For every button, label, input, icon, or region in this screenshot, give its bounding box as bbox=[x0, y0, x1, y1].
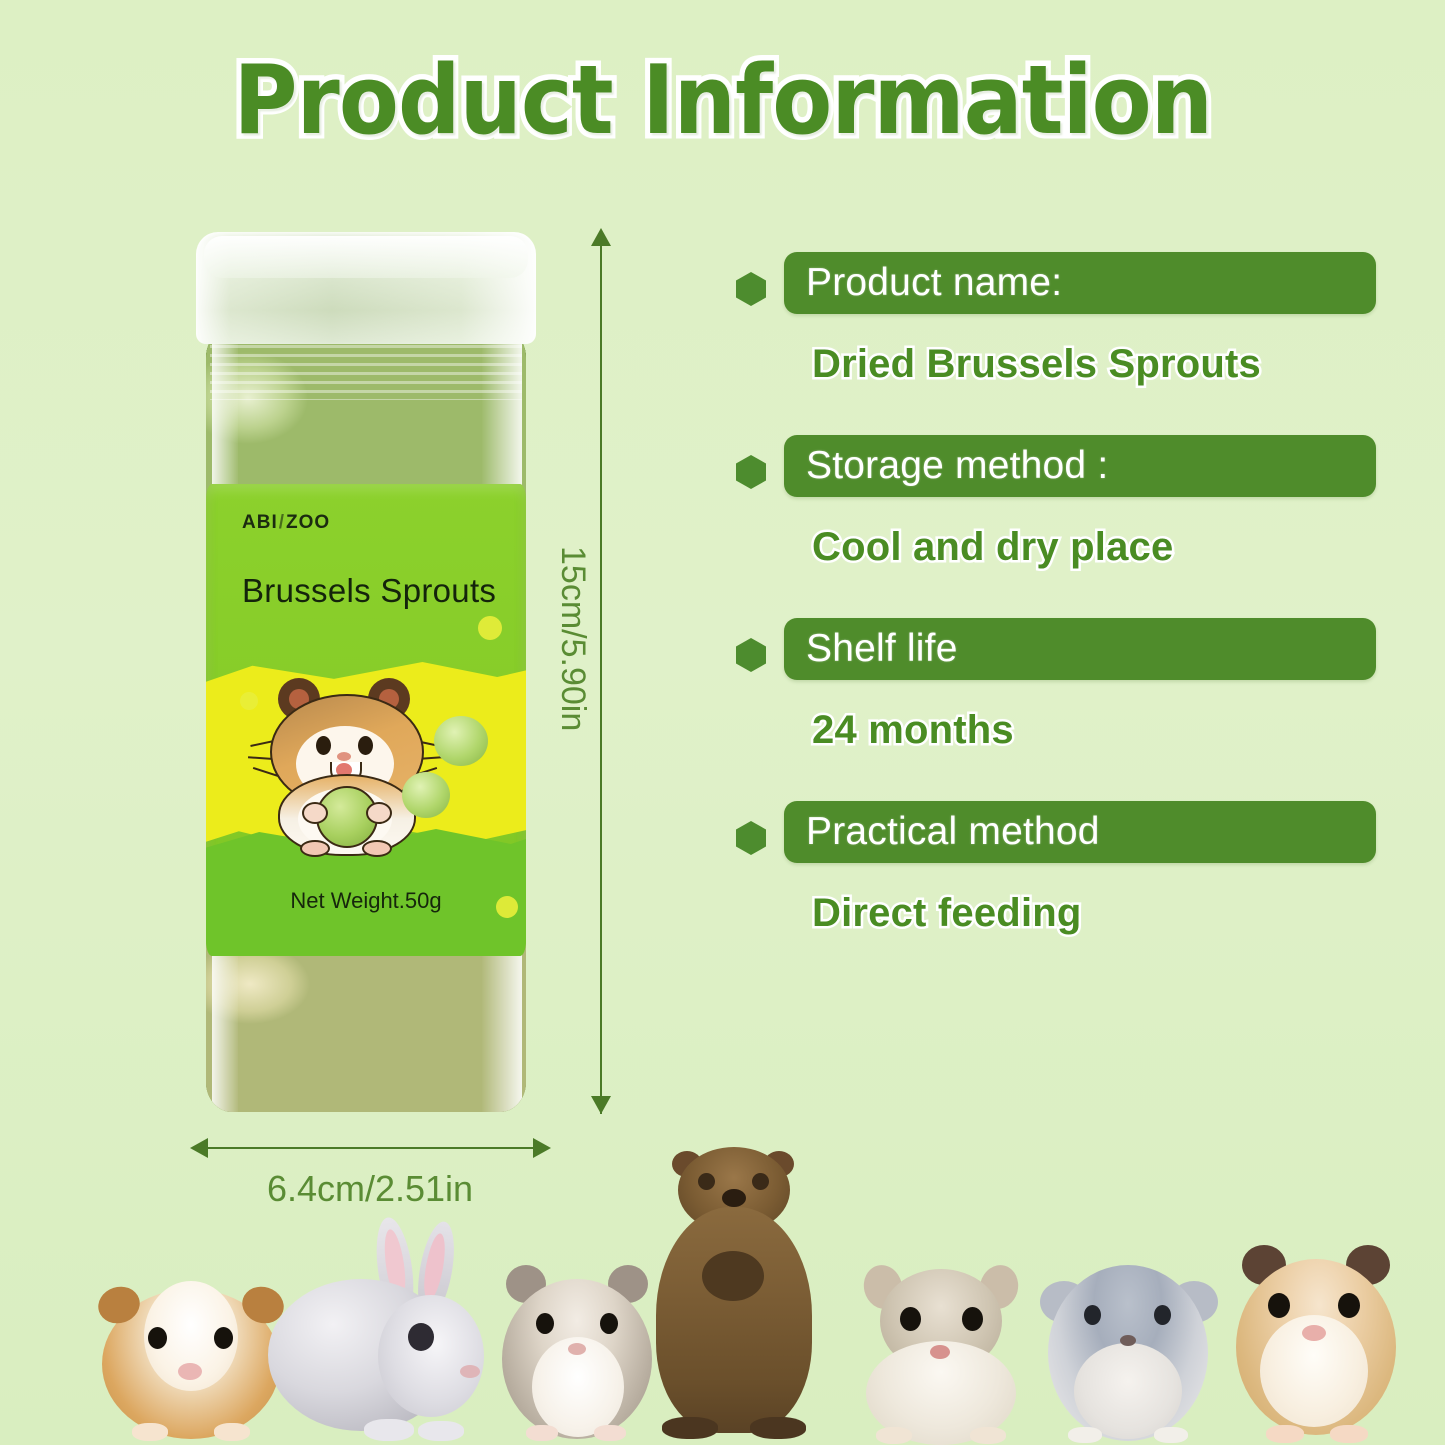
info-value-text: Direct feeding bbox=[812, 891, 1376, 936]
product-information-infographic: Product Information ABI/ZOO Brussels Spr… bbox=[0, 0, 1445, 1445]
brand-zoo: ZOO bbox=[286, 512, 330, 533]
hexagon-bullet-icon bbox=[736, 455, 766, 489]
height-dimension-label: 15cm/5.90in bbox=[553, 546, 592, 731]
dwarf-hamster-photo bbox=[496, 1259, 656, 1445]
guinea-pig-photo bbox=[96, 1265, 286, 1445]
jar-lid bbox=[196, 232, 536, 344]
info-list: Product name: Dried Brussels Sprouts Sto… bbox=[736, 252, 1376, 984]
label-product-name: Brussels Sprouts bbox=[242, 572, 496, 610]
info-row-storage-method: Storage method : Cool and dry place bbox=[736, 435, 1376, 570]
info-label-pill: Storage method : bbox=[784, 435, 1376, 497]
jar-neck-threads bbox=[210, 336, 522, 400]
height-arrow-down-icon bbox=[591, 1096, 611, 1114]
info-label-pill: Shelf life bbox=[784, 618, 1376, 680]
height-arrow-up-icon bbox=[591, 228, 611, 246]
info-row-practical-method: Practical method Direct feeding bbox=[736, 801, 1376, 936]
chinchilla-photo bbox=[1040, 1257, 1216, 1445]
sprout-decoration bbox=[402, 772, 450, 818]
jar-lid-top-surface bbox=[204, 236, 528, 278]
groundhog-photo bbox=[648, 1145, 818, 1445]
pet-animal-row bbox=[0, 1115, 1445, 1445]
info-row-product-name: Product name: Dried Brussels Sprouts bbox=[736, 252, 1376, 387]
info-label-pill: Practical method bbox=[784, 801, 1376, 863]
info-value-text: Cool and dry place bbox=[812, 525, 1376, 570]
syrian-hamster-photo bbox=[1226, 1245, 1404, 1445]
product-label: ABI/ZOO Brussels Sprouts bbox=[206, 484, 526, 956]
info-value-text: 24 months bbox=[812, 708, 1376, 753]
hexagon-bullet-icon bbox=[736, 821, 766, 855]
brand-logo: ABI/ZOO bbox=[242, 512, 330, 534]
info-label-text: Storage method : bbox=[806, 444, 1108, 488]
sprout-decoration bbox=[434, 716, 488, 766]
info-label-text: Shelf life bbox=[806, 627, 958, 671]
hexagon-bullet-icon bbox=[736, 272, 766, 306]
info-label-text: Practical method bbox=[806, 810, 1100, 854]
info-label-pill: Product name: bbox=[784, 252, 1376, 314]
gerbil-photo bbox=[860, 1255, 1022, 1445]
brand-abi: ABI bbox=[242, 512, 278, 533]
label-net-weight: Net Weight.50g bbox=[206, 888, 526, 914]
rabbit-photo bbox=[268, 1217, 490, 1445]
label-dot bbox=[478, 616, 502, 640]
info-row-shelf-life: Shelf life 24 months bbox=[736, 618, 1376, 753]
info-label-text: Product name: bbox=[806, 261, 1062, 305]
brand-separator: / bbox=[279, 512, 285, 533]
label-dot bbox=[240, 692, 258, 710]
height-dimension-line bbox=[600, 234, 602, 1114]
hamster-mascot-icon bbox=[262, 678, 428, 854]
info-value-text: Dried Brussels Sprouts bbox=[812, 342, 1376, 387]
product-jar: ABI/ZOO Brussels Sprouts bbox=[196, 232, 536, 1112]
page-title-wrap: Product Information bbox=[0, 52, 1445, 152]
hexagon-bullet-icon bbox=[736, 638, 766, 672]
page-title: Product Information bbox=[233, 52, 1211, 152]
dried-sprouts-bottom bbox=[206, 940, 526, 1112]
